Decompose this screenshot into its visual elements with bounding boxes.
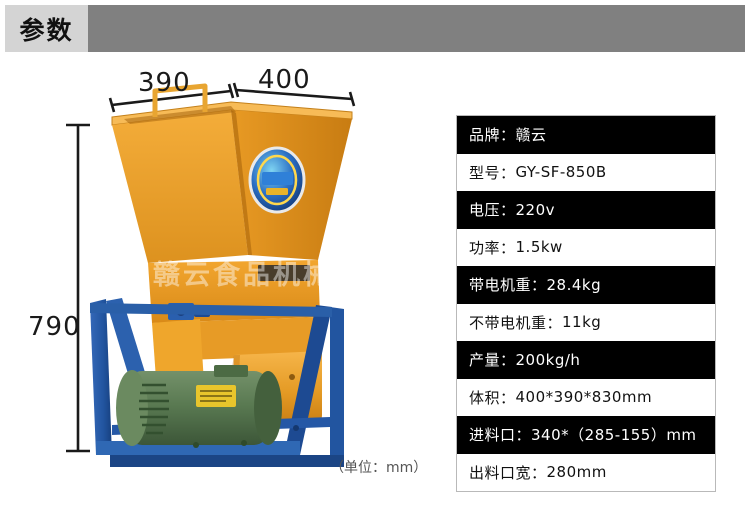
page-title: 参数 (19, 11, 73, 47)
spec-row: 产量：200kg/h (457, 341, 715, 379)
spec-row: 电压：220v (457, 191, 715, 229)
spec-row: 型号：GY-SF-850B (457, 154, 715, 192)
spec-label: 带电机重： (469, 274, 547, 295)
spec-value: 220v (516, 201, 556, 219)
spec-label: 体积： (469, 387, 516, 408)
product-badge-icon (250, 148, 304, 212)
spec-value: 400*390*830mm (516, 388, 653, 406)
spec-value: 200kg/h (516, 351, 581, 369)
dimension-line-790 (66, 125, 90, 451)
spec-value: 1.5kw (516, 238, 563, 256)
section-header-tab: 参数 (5, 5, 88, 52)
spec-row: 品牌：赣云 (457, 116, 715, 154)
spec-label: 品牌： (469, 124, 516, 145)
spec-label: 进料口： (469, 424, 531, 445)
electric-motor (116, 365, 282, 448)
motor-vent-slots (139, 385, 169, 433)
spec-value: GY-SF-850B (516, 163, 607, 181)
spec-value: 赣云 (516, 124, 547, 145)
dimension-label-400: 400 (258, 65, 311, 95)
spec-value: 340*（285-155）mm (531, 424, 697, 445)
spec-row: 带电机重：28.4kg (457, 266, 715, 304)
spec-label: 不带电机重： (469, 312, 562, 333)
unit-note: （单位：mm） (330, 457, 427, 477)
spec-row: 进料口：340*（285-155）mm (457, 416, 715, 454)
spec-label: 电压： (469, 199, 516, 220)
spec-row: 功率：1.5kw (457, 229, 715, 267)
dimension-label-390: 390 (138, 68, 191, 98)
spec-label: 功率： (469, 237, 516, 258)
product-diagram: 390 400 790 赣云食品机械 （单位：mm） (0, 55, 450, 507)
spec-label: 出料口宽： (469, 462, 547, 483)
section-header-bar: 参数 (5, 5, 745, 52)
machine-nameplate (258, 265, 310, 281)
specification-table: 品牌：赣云型号：GY-SF-850B电压：220v功率：1.5kw带电机重：28… (456, 115, 716, 492)
hopper-front-wall (112, 110, 248, 263)
spec-value: 28.4kg (547, 276, 602, 294)
spec-row: 体积：400*390*830mm (457, 379, 715, 417)
spec-label: 产量： (469, 349, 516, 370)
spec-row: 不带电机重：11kg (457, 304, 715, 342)
spec-label: 型号： (469, 162, 516, 183)
spec-row: 出料口宽：280mm (457, 454, 715, 492)
spec-value: 280mm (547, 463, 607, 481)
chute-bolt (289, 374, 295, 380)
spec-value: 11kg (562, 313, 601, 331)
dimension-label-790: 790 (28, 312, 81, 342)
machine-illustration (0, 55, 450, 507)
